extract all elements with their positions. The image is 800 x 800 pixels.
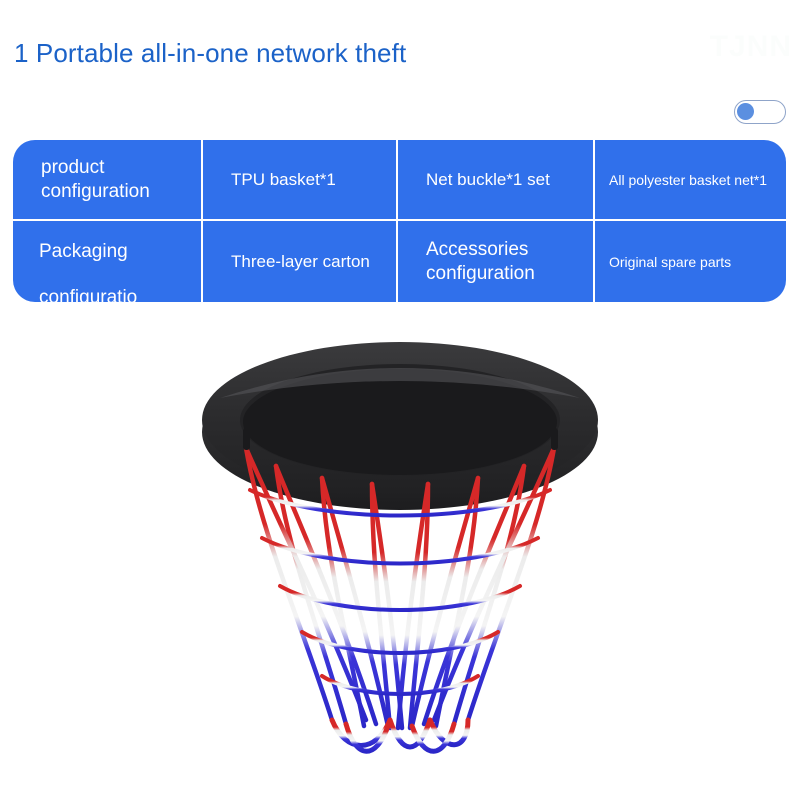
corner-watermark: TJNN xyxy=(702,26,792,68)
table-row: product configuration TPU basket*1 Net b… xyxy=(13,140,786,221)
spec-cell-product-configuration: product configuration xyxy=(13,140,201,219)
spec-cell-tpu-basket: TPU basket*1 xyxy=(201,140,396,219)
toggle-knob[interactable] xyxy=(737,103,754,120)
spec-cell-label: Original spare parts xyxy=(609,253,731,271)
spec-cell-net-buckle: Net buckle*1 set xyxy=(396,140,593,219)
spec-cell-label: Packaging configuratio xyxy=(39,229,214,302)
toggle-switch[interactable] xyxy=(734,100,786,124)
table-row: Packaging configuratio Three-layer carto… xyxy=(13,221,786,302)
spec-cell-label: TPU basket*1 xyxy=(231,169,336,191)
spec-cell-label: All polyester basket net*1 xyxy=(609,171,767,189)
product-spec-table: product configuration TPU basket*1 Net b… xyxy=(13,140,786,302)
spec-cell-label: Accessories configuration xyxy=(426,238,579,286)
spec-cell-accessories-configuration: Accessories configuration xyxy=(396,221,593,302)
page-title: 1 Portable all-in-one network theft xyxy=(14,37,406,69)
spec-cell-original-spare-parts: Original spare parts xyxy=(593,221,786,302)
basketball-hoop-photo xyxy=(150,320,650,790)
spec-cell-three-layer-carton: Three-layer carton xyxy=(201,221,396,302)
spec-cell-label: product configuration xyxy=(41,156,187,204)
spec-cell-label: Three-layer carton xyxy=(231,251,370,273)
spec-cell-polyester-net: All polyester basket net*1 xyxy=(593,140,786,219)
spec-cell-packaging-configuration: Packaging configuratio xyxy=(13,221,201,302)
spec-cell-label: Net buckle*1 set xyxy=(426,169,550,191)
